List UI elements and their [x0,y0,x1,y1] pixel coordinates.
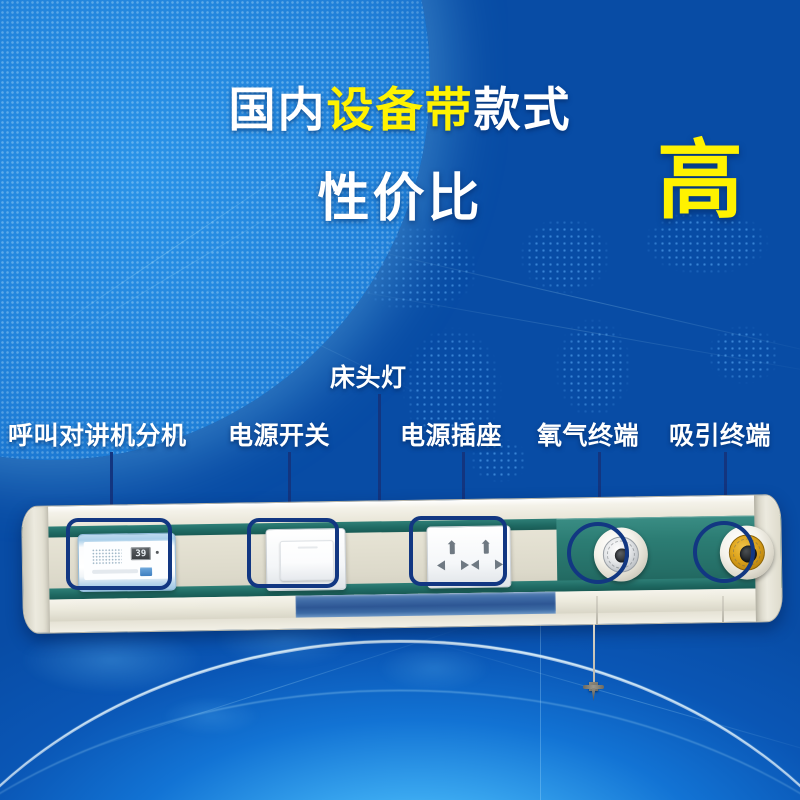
callout-label-suction-terminal: 吸引终端 [669,416,771,452]
oxygen-cord [596,596,598,624]
headline-block: 国内设备带款式 性价比 高 [0,86,800,133]
highlight-circle-oxygen [567,522,629,584]
callout-label-intercom: 呼叫对讲机分机 [8,416,187,452]
callout-label-oxygen-terminal: 氧气终端 [537,416,639,452]
highlight-box-power-socket [409,516,507,586]
poster-canvas: 国内设备带款式 性价比 高 呼叫对讲机分机 电源开关 床头灯 电源插座 氧气终端… [0,0,800,800]
headline-emphasis-gao: 高 [620,138,780,224]
headline-line1-yellow: 设备带 [327,83,474,136]
headline-line-2: 性价比 [250,156,550,231]
panel-end-cap-left [22,507,50,633]
bed-lamp-lens[interactable] [295,592,555,618]
oxygen-hook-cord [593,624,595,686]
callout-label-bed-lamp: 床头灯 [330,358,407,394]
headline-line1-white-a: 国内 [229,83,327,136]
highlight-box-intercom [66,518,172,590]
headline-line1-white-b: 款式 [474,83,572,136]
headline-line-1: 国内设备带款式 [0,86,800,133]
equipment-hook-icon [589,682,598,691]
highlight-circle-suction [693,521,755,583]
suction-cord [722,596,724,622]
callout-label-power-socket: 电源插座 [400,416,502,452]
highlight-box-power-switch [247,518,339,588]
callout-label-power-switch: 电源开关 [228,416,330,452]
